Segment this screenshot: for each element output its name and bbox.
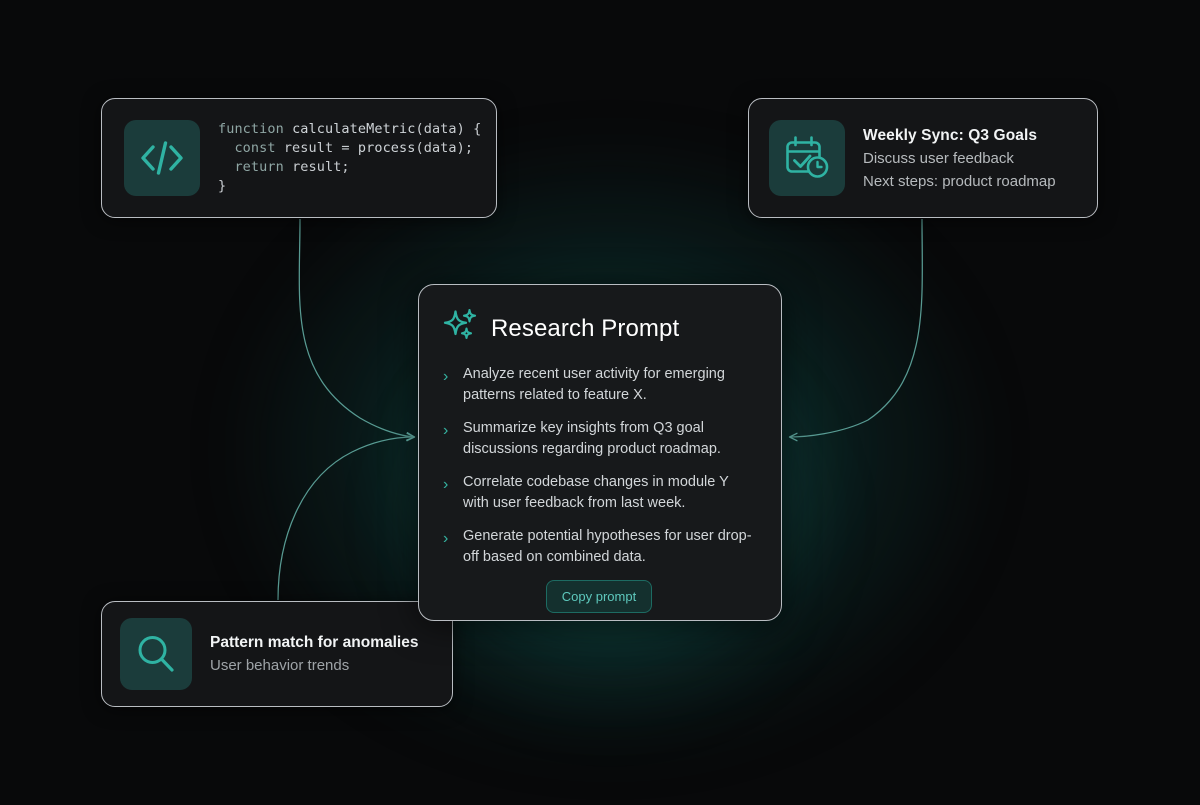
meeting-note-card[interactable]: Weekly Sync: Q3 Goals Discuss user feedb… — [748, 98, 1098, 218]
prompt-header: Research Prompt — [443, 309, 755, 348]
chevron-right-icon: › — [443, 530, 454, 567]
pattern-match-subtitle: User behavior trends — [210, 654, 418, 677]
code-token: (data); — [415, 140, 473, 156]
code-token: result = — [284, 140, 358, 156]
code-line: } — [218, 177, 481, 196]
page-title: Research Prompt — [491, 315, 679, 343]
sparkles-icon — [443, 309, 479, 348]
code-line: return result; — [218, 158, 481, 177]
code-token: const — [218, 140, 284, 156]
prompt-item-text: Correlate codebase changes in module Y w… — [463, 472, 755, 513]
prompt-item-text: Summarize key insights from Q3 goal disc… — [463, 418, 755, 459]
search-icon — [120, 618, 192, 690]
prompt-list-item: ›Analyze recent user activity for emergi… — [443, 364, 755, 405]
prompt-list-item: ›Correlate codebase changes in module Y … — [443, 472, 755, 513]
meeting-line-2: Next steps: product roadmap — [863, 170, 1056, 193]
search-text-block: Pattern match for anomalies User behavio… — [210, 631, 418, 677]
calendar-check-clock-icon — [769, 120, 845, 196]
code-line: const result = process(data); — [218, 139, 481, 158]
prompt-item-list: ›Analyze recent user activity for emergi… — [443, 364, 755, 567]
code-token: calculateMetric — [292, 121, 415, 137]
chevron-right-icon: › — [443, 422, 454, 459]
chevron-right-icon: › — [443, 476, 454, 513]
code-text: function calculateMetric(data) { const r… — [218, 120, 481, 196]
chevron-right-icon: › — [443, 368, 454, 405]
prompt-actions: Copy prompt — [443, 580, 755, 613]
code-token: function — [218, 121, 292, 137]
code-token: process — [358, 140, 416, 156]
prompt-item-text: Analyze recent user activity for emergin… — [463, 364, 755, 405]
code-snippet-card[interactable]: function calculateMetric(data) { const r… — [101, 98, 497, 218]
research-prompt-card[interactable]: Research Prompt ›Analyze recent user act… — [418, 284, 782, 621]
code-brackets-icon — [124, 120, 200, 196]
code-token: } — [218, 178, 226, 194]
meeting-text-block: Weekly Sync: Q3 Goals Discuss user feedb… — [863, 124, 1056, 193]
connector-meeting-to-prompt — [790, 219, 922, 437]
copy-prompt-button[interactable]: Copy prompt — [546, 580, 652, 613]
connector-code-to-prompt — [299, 219, 414, 437]
meeting-line-1: Discuss user feedback — [863, 147, 1056, 170]
code-line: function calculateMetric(data) { — [218, 120, 481, 139]
code-token: result; — [292, 159, 350, 175]
pattern-match-card[interactable]: Pattern match for anomalies User behavio… — [101, 601, 453, 707]
canvas: function calculateMetric(data) { const r… — [0, 0, 1200, 805]
code-token: return — [218, 159, 292, 175]
code-token: (data) { — [415, 121, 481, 137]
pattern-match-title: Pattern match for anomalies — [210, 631, 418, 654]
meeting-title: Weekly Sync: Q3 Goals — [863, 124, 1056, 147]
prompt-item-text: Generate potential hypotheses for user d… — [463, 526, 755, 567]
prompt-list-item: ›Summarize key insights from Q3 goal dis… — [443, 418, 755, 459]
prompt-list-item: ›Generate potential hypotheses for user … — [443, 526, 755, 567]
connector-search-to-prompt — [278, 437, 414, 600]
